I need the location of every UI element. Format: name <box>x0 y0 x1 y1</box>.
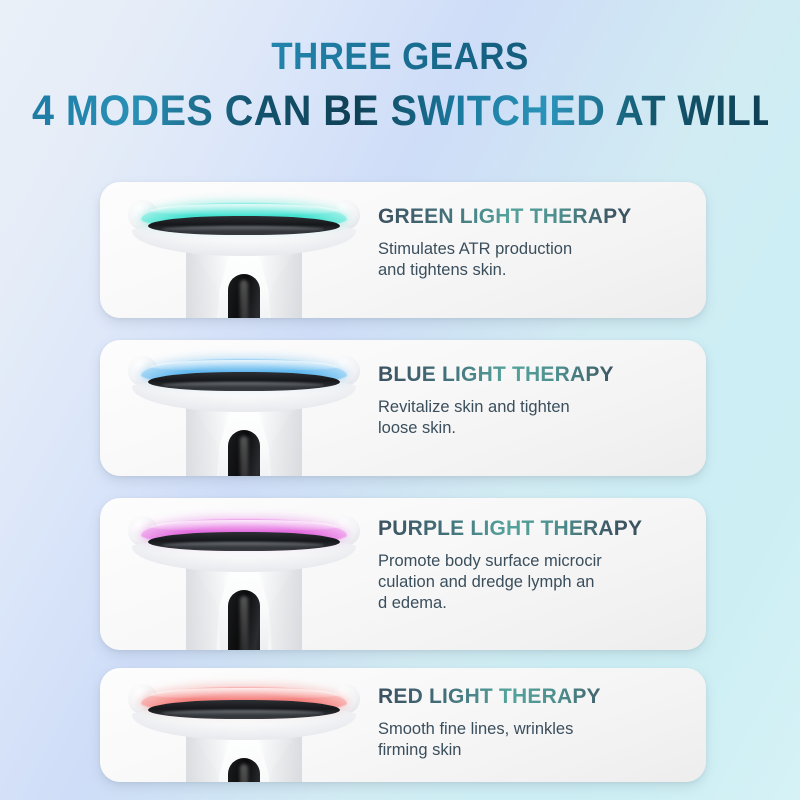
device-led-gloss <box>150 520 338 531</box>
device-dark-bar-highlight <box>162 710 324 716</box>
device-image-purple <box>118 498 370 650</box>
card-text-block: BLUE LIGHT THERAPY Revitalize skin and t… <box>378 362 688 439</box>
device-led-gloss <box>150 360 338 371</box>
device-image-red <box>118 668 370 782</box>
device-button-highlight <box>240 280 248 318</box>
card-text-block: RED LIGHT THERAPY Smooth fine lines, wri… <box>378 684 688 761</box>
neck-massager-device-icon <box>128 680 360 740</box>
card-title: RED LIGHT THERAPY <box>378 684 688 709</box>
device-head <box>128 512 360 572</box>
card-description: Stimulates ATR production and tightens s… <box>378 239 688 281</box>
device-head <box>128 680 360 740</box>
mode-card-red-light[interactable]: RED LIGHT THERAPY Smooth fine lines, wri… <box>100 668 706 782</box>
infographic-page: THREE GEARS 4 MODES CAN BE SWITCHED AT W… <box>0 0 800 800</box>
device-head <box>128 196 360 256</box>
device-led-gloss <box>150 204 338 215</box>
mode-card-green-light[interactable]: GREEN LIGHT THERAPY Stimulates ATR produ… <box>100 182 706 318</box>
card-title: GREEN LIGHT THERAPY <box>378 204 688 229</box>
mode-card-purple-light[interactable]: PURPLE LIGHT THERAPY Promote body surfac… <box>100 498 706 650</box>
device-head <box>128 352 360 412</box>
neck-massager-device-icon <box>128 352 360 412</box>
card-description: Smooth fine lines, wrinkles firming skin <box>378 719 688 761</box>
card-text-block: GREEN LIGHT THERAPY Stimulates ATR produ… <box>378 204 688 281</box>
device-dark-bar-highlight <box>162 226 324 232</box>
neck-massager-device-icon <box>128 512 360 572</box>
mode-card-blue-light[interactable]: BLUE LIGHT THERAPY Revitalize skin and t… <box>100 340 706 476</box>
card-description: Promote body surface microcir culation a… <box>378 551 688 614</box>
card-description: Revitalize skin and tighten loose skin. <box>378 397 688 439</box>
device-image-green <box>118 182 370 318</box>
device-button-highlight <box>240 596 248 650</box>
device-button-highlight <box>240 764 248 782</box>
device-image-blue <box>118 340 370 476</box>
device-button-highlight <box>240 436 248 476</box>
device-stem <box>186 560 302 650</box>
card-title: BLUE LIGHT THERAPY <box>378 362 688 387</box>
card-title: PURPLE LIGHT THERAPY <box>378 516 688 541</box>
neck-massager-device-icon <box>128 196 360 256</box>
heading-line-2: 4 MODES CAN BE SWITCHED AT WILL <box>32 87 768 135</box>
device-led-gloss <box>150 688 338 699</box>
device-dark-bar-highlight <box>162 382 324 388</box>
card-text-block: PURPLE LIGHT THERAPY Promote body surfac… <box>378 516 688 615</box>
device-dark-bar-highlight <box>162 542 324 548</box>
heading-line-1: THREE GEARS <box>32 36 768 79</box>
header: THREE GEARS 4 MODES CAN BE SWITCHED AT W… <box>0 36 800 135</box>
